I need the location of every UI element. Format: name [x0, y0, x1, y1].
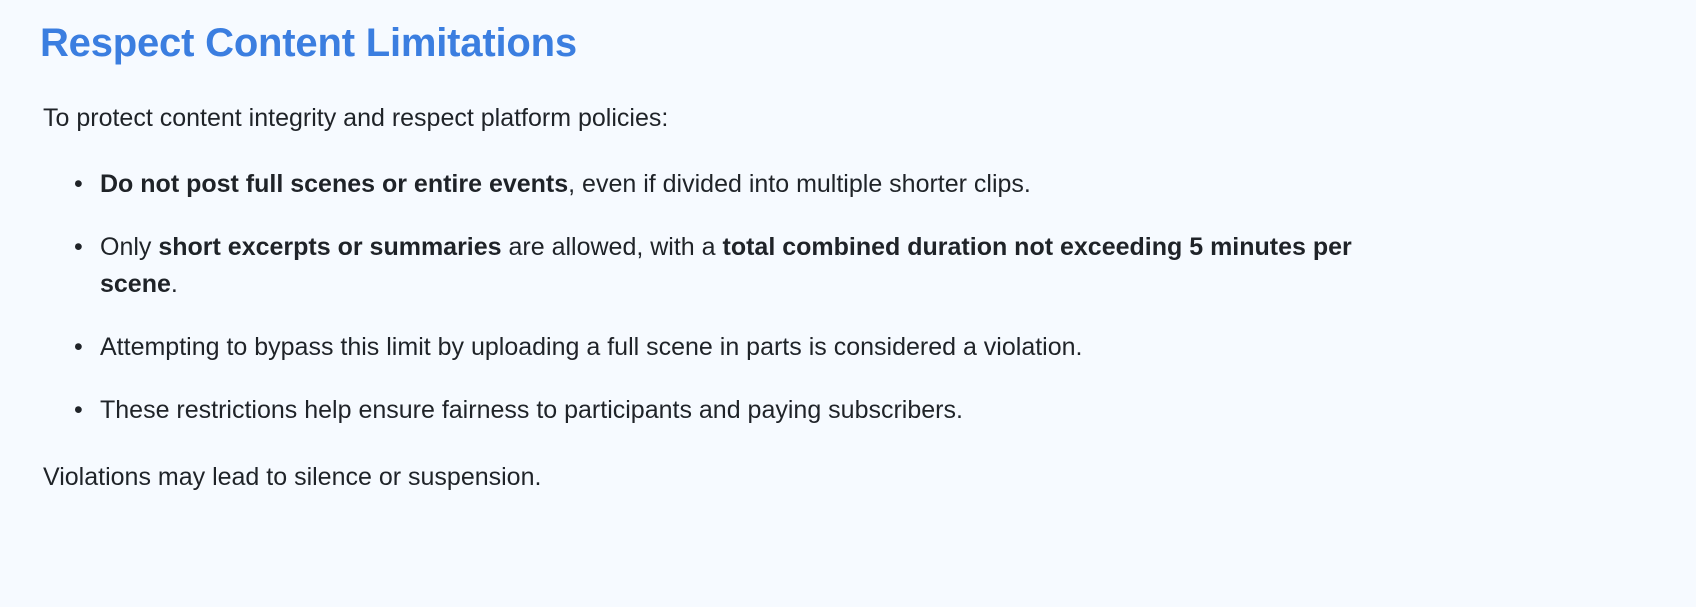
- body-text: .: [171, 270, 178, 298]
- list-item: Attempting to bypass this limit by uploa…: [100, 329, 1430, 366]
- list-item: Do not post full scenes or entire events…: [100, 166, 1430, 203]
- page-title: Respect Content Limitations: [40, 18, 1656, 68]
- emphasis-text: Do not post full scenes or entire events: [100, 170, 568, 198]
- emphasis-text: short excerpts or summaries: [158, 233, 501, 261]
- body-text: , even if divided into multiple shorter …: [568, 170, 1031, 198]
- intro-paragraph: To protect content integrity and respect…: [43, 102, 1656, 136]
- body-text: are allowed, with a: [502, 233, 723, 261]
- closing-paragraph: Violations may lead to silence or suspen…: [43, 461, 1656, 495]
- body-text: Only: [100, 233, 158, 261]
- list-item: These restrictions help ensure fairness …: [100, 392, 1430, 429]
- list-item: Only short excerpts or summaries are all…: [100, 229, 1430, 303]
- content-limitations-section: Respect Content Limitations To protect c…: [0, 0, 1696, 607]
- body-text: These restrictions help ensure fairness …: [100, 396, 963, 424]
- rules-list: Do not post full scenes or entire events…: [40, 166, 1656, 429]
- body-text: Attempting to bypass this limit by uploa…: [100, 333, 1082, 361]
